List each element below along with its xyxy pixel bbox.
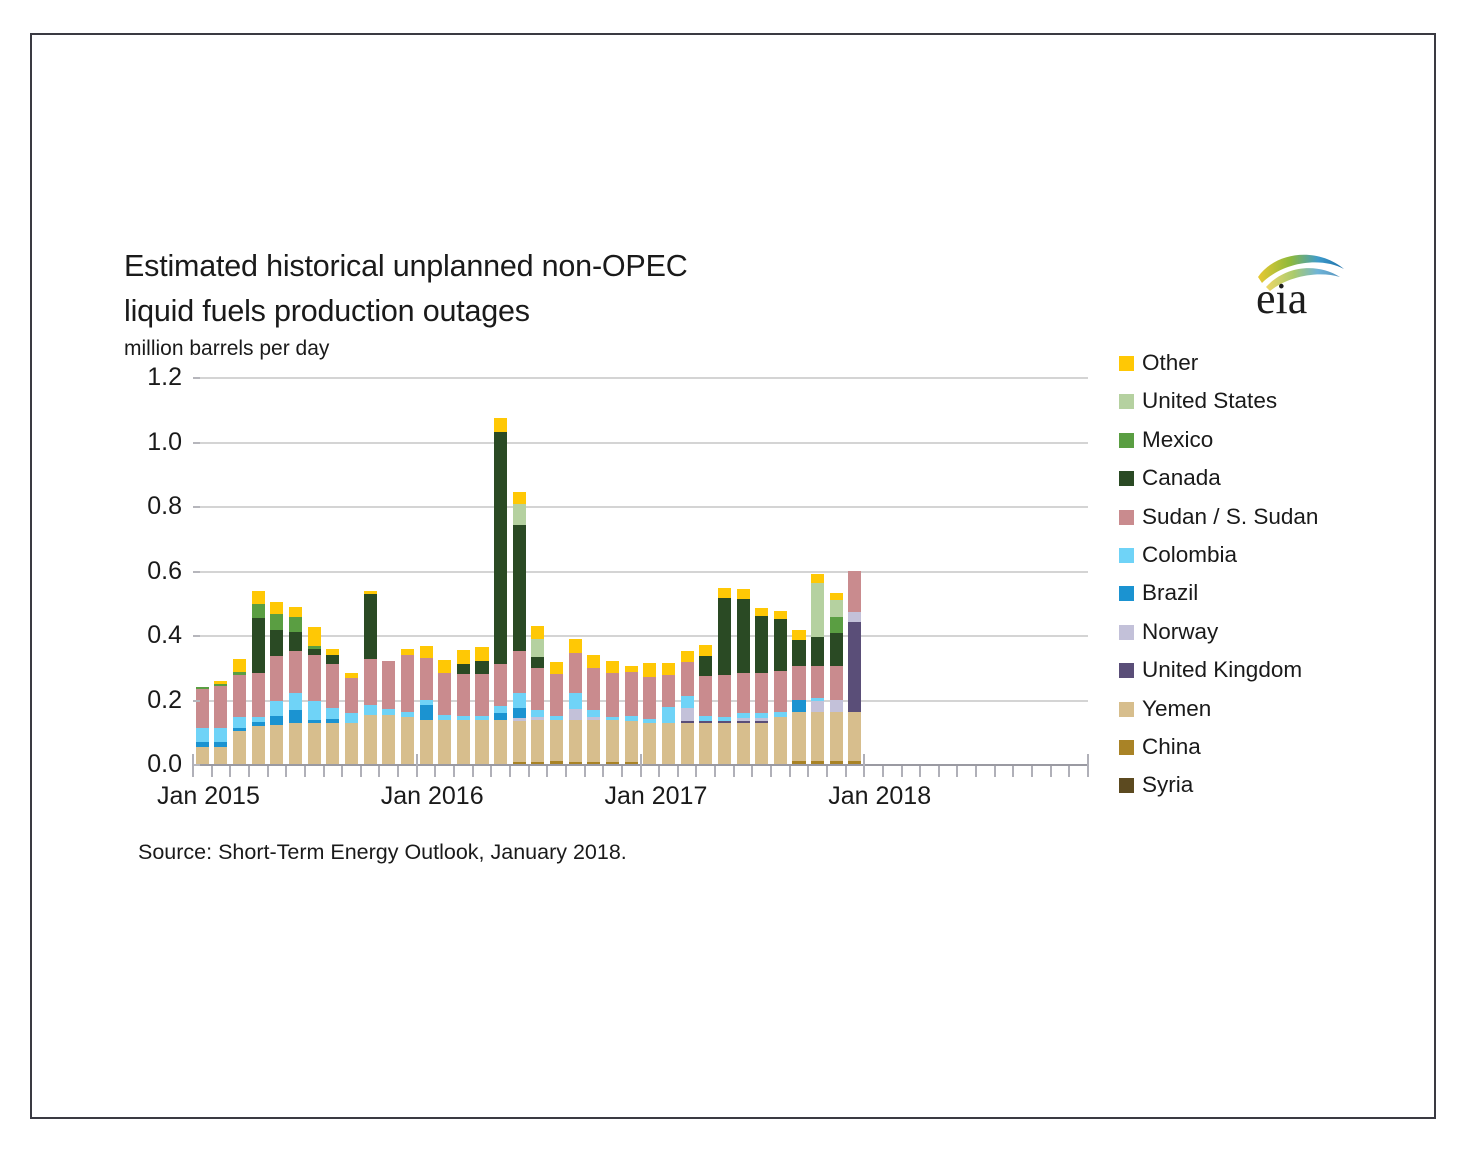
bar-column[interactable] <box>438 660 451 765</box>
bar-segment <box>755 608 768 616</box>
bar-segment <box>699 676 712 716</box>
bar-segment <box>196 689 209 728</box>
bar-column[interactable] <box>569 639 582 765</box>
chart-legend: OtherUnited StatesMexicoCanadaSudan / S.… <box>1119 348 1379 809</box>
bar-segment <box>270 656 283 701</box>
bar-column[interactable] <box>270 602 283 765</box>
bar-segment <box>308 655 321 700</box>
bar-segment <box>513 718 526 721</box>
bar-segment <box>699 656 712 675</box>
bar-segment <box>494 432 507 664</box>
bar-segment <box>531 717 544 720</box>
bar-segment <box>326 649 339 655</box>
bar-segment <box>531 626 544 639</box>
legend-swatch-icon <box>1119 548 1134 563</box>
bar-column[interactable] <box>681 651 694 765</box>
x-axis-minor-tick <box>584 766 586 777</box>
bar-segment <box>252 673 265 717</box>
bar-segment <box>681 696 694 707</box>
bar-segment <box>699 723 712 765</box>
bar-segment <box>438 715 451 720</box>
bar-column[interactable] <box>811 574 824 765</box>
bar-column[interactable] <box>774 611 787 765</box>
bar-segment <box>830 593 843 599</box>
x-axis-minor-tick <box>1031 766 1033 777</box>
bar-column[interactable] <box>345 673 358 765</box>
y-axis-tick-label: 0.2 <box>122 688 182 713</box>
bar-segment <box>345 723 358 765</box>
x-axis-minor-tick <box>770 766 772 777</box>
bar-segment <box>401 712 414 717</box>
bar-segment <box>214 728 227 743</box>
x-axis-minor-tick <box>378 766 380 777</box>
bar-segment <box>587 655 600 668</box>
bar-segment <box>438 660 451 673</box>
bar-column[interactable] <box>382 661 395 765</box>
bar-segment <box>774 611 787 619</box>
eia-logo-text: eia <box>1256 274 1307 319</box>
x-axis-minor-tick <box>1012 766 1014 777</box>
x-axis-minor-tick <box>397 766 399 777</box>
bar-segment <box>420 700 433 706</box>
bar-segment <box>718 675 731 717</box>
bar-segment <box>531 720 544 762</box>
bar-segment <box>513 721 526 763</box>
x-axis-minor-tick <box>882 766 884 777</box>
bar-segment <box>494 706 507 713</box>
bar-column[interactable] <box>289 607 302 765</box>
bar-segment <box>737 721 750 723</box>
x-axis-minor-tick <box>751 766 753 777</box>
bar-segment <box>196 687 209 689</box>
bar-segment <box>811 712 824 760</box>
bar-segment <box>214 684 227 686</box>
bar-segment <box>289 693 302 710</box>
bar-segment <box>606 717 619 720</box>
bar-segment <box>364 715 377 765</box>
x-axis-minor-tick <box>509 766 511 777</box>
bar-column[interactable] <box>737 589 750 765</box>
x-axis-tick-label: Jan 2015 <box>157 782 260 811</box>
bar-segment <box>401 717 414 765</box>
gridline <box>193 377 1088 379</box>
x-axis-minor-tick <box>528 766 530 777</box>
bar-segment <box>681 651 694 662</box>
legend-item[interactable]: China <box>1119 732 1379 770</box>
bar-segment <box>289 710 302 724</box>
bar-column[interactable] <box>718 588 731 765</box>
bar-column[interactable] <box>214 681 227 765</box>
legend-item[interactable]: Canada <box>1119 463 1379 501</box>
bar-segment <box>382 709 395 715</box>
bar-segment <box>755 713 768 718</box>
x-axis-minor-tick <box>826 766 828 777</box>
legend-item[interactable]: Sudan / S. Sudan <box>1119 502 1379 540</box>
legend-item[interactable]: Colombia <box>1119 540 1379 578</box>
bar-segment <box>718 588 731 598</box>
bar-column[interactable] <box>550 661 563 765</box>
bar-segment <box>326 655 339 665</box>
bar-segment <box>364 594 377 659</box>
legend-label: Mexico <box>1142 425 1213 455</box>
y-axis-tick <box>193 700 200 702</box>
y-axis-labels: 0.00.20.40.60.81.01.2 <box>120 378 182 765</box>
bar-segment <box>718 598 731 675</box>
bar-column[interactable] <box>830 593 843 765</box>
bar-segment <box>531 710 544 717</box>
plot-area <box>193 378 1088 765</box>
bar-segment <box>364 591 377 594</box>
bar-segment <box>531 639 544 657</box>
bar-segment <box>308 646 321 649</box>
bar-segment <box>662 723 675 765</box>
bar-segment <box>755 673 768 713</box>
x-axis-minor-tick <box>360 766 362 777</box>
bar-segment <box>438 673 451 715</box>
bar-column[interactable] <box>308 627 321 765</box>
bar-segment <box>513 693 526 708</box>
bar-segment <box>308 649 321 655</box>
bar-segment <box>364 705 377 715</box>
bar-segment <box>643 719 656 723</box>
bar-segment <box>382 661 395 709</box>
legend-item[interactable]: Mexico <box>1119 425 1379 463</box>
x-axis-major-tick <box>1087 754 1089 777</box>
x-axis-minor-tick <box>901 766 903 777</box>
x-axis-major-tick <box>640 754 642 777</box>
legend-item[interactable]: Syria <box>1119 770 1379 808</box>
legend-item[interactable]: United States <box>1119 386 1379 424</box>
bar-segment <box>513 492 526 505</box>
bar-segment <box>494 418 507 433</box>
bar-segment <box>718 721 731 723</box>
bar-segment <box>270 602 283 614</box>
bar-column[interactable] <box>457 650 470 765</box>
bar-segment <box>308 701 321 720</box>
bar-segment <box>662 675 675 707</box>
legend-label: Sudan / S. Sudan <box>1142 502 1318 532</box>
bar-segment <box>252 604 265 619</box>
y-axis-tick <box>193 506 200 508</box>
bar-column[interactable] <box>420 646 433 765</box>
bar-segment <box>811 583 824 636</box>
bar-segment <box>457 650 470 665</box>
bar-segment <box>233 659 246 672</box>
y-axis-tick-label: 0.8 <box>122 494 182 519</box>
bar-segment <box>830 712 843 760</box>
bar-segment <box>569 653 582 693</box>
bar-segment <box>737 599 750 673</box>
bar-segment <box>606 673 619 717</box>
bar-segment <box>625 672 638 716</box>
x-axis-minor-tick <box>677 766 679 777</box>
x-axis-minor-tick <box>789 766 791 777</box>
gridline <box>193 506 1088 508</box>
bar-segment <box>662 707 675 723</box>
bar-column[interactable] <box>364 591 377 765</box>
y-axis-tick <box>193 571 200 573</box>
legend-item[interactable]: Brazil <box>1119 578 1379 616</box>
bar-segment <box>270 614 283 630</box>
bar-segment <box>643 663 656 678</box>
bar-segment <box>550 662 563 675</box>
y-axis-tick <box>193 442 200 444</box>
bar-segment <box>699 645 712 656</box>
bar-column[interactable] <box>755 608 768 765</box>
bar-segment <box>699 721 712 723</box>
bar-segment <box>830 633 843 665</box>
source-note: Source: Short-Term Energy Outlook, Janua… <box>138 840 627 865</box>
bar-segment <box>531 657 544 668</box>
bar-segment <box>848 622 861 712</box>
bar-segment <box>792 666 805 700</box>
legend-label: Canada <box>1142 463 1221 493</box>
x-axis-minor-tick <box>994 766 996 777</box>
legend-swatch-icon <box>1119 510 1134 525</box>
bar-segment <box>308 627 321 646</box>
bar-column[interactable] <box>625 666 638 765</box>
bar-segment <box>792 700 805 713</box>
x-axis-minor-tick <box>490 766 492 777</box>
bar-segment <box>848 612 861 622</box>
bar-segment <box>270 701 283 716</box>
bar-segment <box>569 709 582 720</box>
legend-swatch-icon <box>1119 356 1134 371</box>
x-axis-minor-tick <box>434 766 436 777</box>
legend-label: United Kingdom <box>1142 655 1302 685</box>
bar-segment <box>420 646 433 657</box>
legend-item[interactable]: United Kingdom <box>1119 655 1379 693</box>
x-axis-minor-tick <box>323 766 325 777</box>
bar-segment <box>364 659 377 706</box>
y-axis-tick <box>193 377 200 379</box>
legend-swatch-icon <box>1119 471 1134 486</box>
x-axis-minor-tick <box>807 766 809 777</box>
bar-segment <box>214 681 227 684</box>
legend-label: China <box>1142 732 1201 762</box>
bar-segment <box>513 708 526 718</box>
bar-segment <box>718 717 731 721</box>
x-axis-minor-tick <box>621 766 623 777</box>
legend-label: United States <box>1142 386 1277 416</box>
legend-swatch-icon <box>1119 586 1134 601</box>
x-axis-major-tick <box>192 754 194 777</box>
bar-segment <box>494 713 507 719</box>
legend-label: Yemen <box>1142 694 1211 724</box>
bar-segment <box>196 728 209 743</box>
bar-segment <box>270 725 283 765</box>
legend-swatch-icon <box>1119 740 1134 755</box>
bar-segment <box>737 713 750 718</box>
bar-column[interactable] <box>252 591 265 765</box>
bar-segment <box>420 658 433 700</box>
bar-segment <box>289 607 302 617</box>
bar-segment <box>792 640 805 666</box>
bar-segment <box>382 715 395 765</box>
legend-swatch-icon <box>1119 778 1134 793</box>
bar-column[interactable] <box>513 492 526 765</box>
bar-segment <box>737 673 750 713</box>
bar-segment <box>737 723 750 765</box>
bar-segment <box>345 713 358 723</box>
bar-segment <box>792 712 805 760</box>
bar-segment <box>625 666 638 672</box>
bar-segment <box>401 655 414 711</box>
bar-segment <box>252 726 265 765</box>
bar-column[interactable] <box>475 647 488 765</box>
bar-column[interactable] <box>792 630 805 765</box>
bar-column[interactable] <box>233 659 246 765</box>
bar-segment <box>345 673 358 678</box>
bar-column[interactable] <box>643 663 656 765</box>
bar-segment <box>252 591 265 604</box>
x-axis-minor-tick <box>938 766 940 777</box>
bar-column[interactable] <box>606 661 619 765</box>
legend-swatch-icon <box>1119 625 1134 640</box>
bar-segment <box>494 720 507 765</box>
bar-segment <box>475 647 488 662</box>
bar-segment <box>681 662 694 696</box>
bar-segment <box>345 678 358 713</box>
bar-segment <box>289 651 302 693</box>
bar-segment <box>252 717 265 723</box>
legend-label: Norway <box>1142 617 1218 647</box>
bar-segment <box>755 723 768 765</box>
bar-segment <box>625 721 638 763</box>
bar-segment <box>569 720 582 762</box>
bar-segment <box>475 661 488 674</box>
bar-segment <box>550 720 563 762</box>
bar-segment <box>830 666 843 700</box>
gridline <box>193 442 1088 444</box>
bar-segment <box>811 574 824 584</box>
bar-segment <box>233 672 246 675</box>
y-axis-tick-label: 0.6 <box>122 559 182 584</box>
bar-column[interactable] <box>531 626 544 765</box>
legend-swatch-icon <box>1119 663 1134 678</box>
bar-segment <box>811 698 824 701</box>
y-axis-tick-label: 0.4 <box>122 623 182 648</box>
legend-swatch-icon <box>1119 702 1134 717</box>
bar-column[interactable] <box>494 418 507 765</box>
bar-segment <box>848 571 861 613</box>
bar-segment <box>494 664 507 706</box>
legend-item[interactable]: Yemen <box>1119 694 1379 732</box>
x-axis-minor-tick <box>285 766 287 777</box>
bar-segment <box>755 616 768 672</box>
y-axis-tick-label: 1.0 <box>122 430 182 455</box>
x-axis-minor-tick <box>714 766 716 777</box>
bar-segment <box>587 717 600 720</box>
bar-segment <box>718 723 731 765</box>
bar-segment <box>438 720 451 765</box>
bar-segment <box>326 708 339 719</box>
bar-segment <box>681 723 694 765</box>
legend-item[interactable]: Other <box>1119 348 1379 386</box>
bar-column[interactable] <box>587 655 600 765</box>
x-axis-tick-label: Jan 2017 <box>605 782 708 811</box>
bar-segment <box>587 720 600 762</box>
x-axis-major-tick <box>416 754 418 777</box>
x-axis-minor-tick <box>1050 766 1052 777</box>
chart-canvas: Estimated historical unplanned non-OPEC … <box>0 0 1470 1155</box>
bar-segment <box>289 632 302 651</box>
gridline <box>193 571 1088 573</box>
bar-segment <box>401 649 414 655</box>
x-axis-minor-tick <box>453 766 455 777</box>
bar-segment <box>811 701 824 712</box>
bar-column[interactable] <box>662 663 675 765</box>
bar-segment <box>289 723 302 765</box>
y-axis-tick-label: 1.2 <box>122 365 182 390</box>
bar-segment <box>214 686 227 728</box>
bar-segment <box>513 504 526 525</box>
x-axis-minor-tick <box>304 766 306 777</box>
x-axis-minor-tick <box>695 766 697 777</box>
bar-column[interactable] <box>848 571 861 765</box>
bar-segment <box>811 637 824 666</box>
x-axis-minor-tick <box>229 766 231 777</box>
y-axis-tick-label: 0.0 <box>122 752 182 777</box>
x-axis-major-tick <box>863 754 865 777</box>
bar-segment <box>811 666 824 698</box>
bar-segment <box>830 700 843 713</box>
eia-logo: eia <box>1252 247 1352 319</box>
bar-segment <box>252 618 265 673</box>
bar-segment <box>531 668 544 710</box>
x-axis-tick-label: Jan 2018 <box>828 782 931 811</box>
bar-segment <box>457 674 470 716</box>
gridline <box>193 635 1088 637</box>
x-axis-minor-tick <box>267 766 269 777</box>
bar-segment <box>569 693 582 708</box>
bar-column[interactable] <box>699 645 712 765</box>
bar-segment <box>420 705 433 720</box>
bar-column[interactable] <box>326 649 339 765</box>
x-axis-tick-label: Jan 2016 <box>381 782 484 811</box>
legend-swatch-icon <box>1119 394 1134 409</box>
bar-segment <box>737 589 750 599</box>
x-axis-minor-tick <box>956 766 958 777</box>
bar-segment <box>606 720 619 762</box>
bar-segment <box>587 710 600 717</box>
bar-segment <box>569 639 582 653</box>
chart-title-line-1: Estimated historical unplanned non-OPEC <box>124 249 688 284</box>
chart-subtitle-units: million barrels per day <box>124 337 329 361</box>
bar-segment <box>214 742 227 747</box>
y-axis-tick <box>193 764 200 766</box>
bar-segment <box>475 720 488 765</box>
bar-segment <box>681 721 694 723</box>
bar-segment <box>252 722 265 726</box>
x-axis-minor-tick <box>658 766 660 777</box>
x-axis-minor-tick <box>565 766 567 777</box>
bar-column[interactable] <box>401 649 414 765</box>
legend-item[interactable]: Norway <box>1119 617 1379 655</box>
legend-swatch-icon <box>1119 433 1134 448</box>
bar-segment <box>196 742 209 747</box>
legend-label: Syria <box>1142 770 1193 800</box>
x-axis-minor-tick <box>733 766 735 777</box>
x-axis-minor-tick <box>1068 766 1070 777</box>
bar-segment <box>270 630 283 656</box>
bar-segment <box>196 747 209 765</box>
x-axis-minor-tick <box>919 766 921 777</box>
bar-segment <box>830 600 843 618</box>
bar-segment <box>233 675 246 717</box>
bar-segment <box>457 720 470 765</box>
bar-segment <box>513 525 526 651</box>
